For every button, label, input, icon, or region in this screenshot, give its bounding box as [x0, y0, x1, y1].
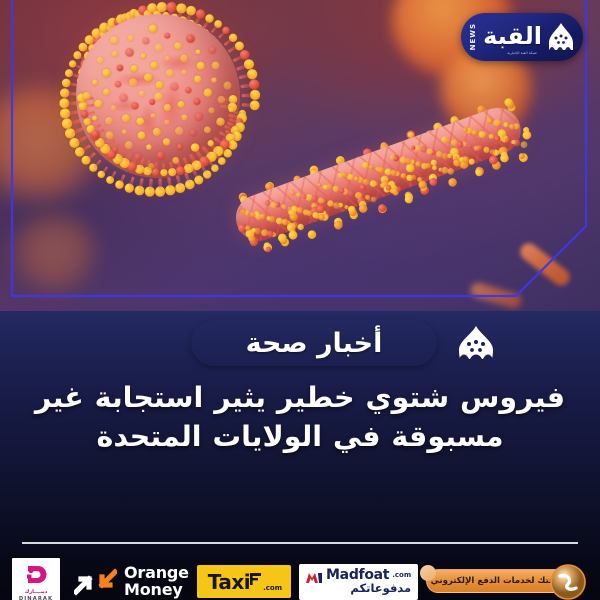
madfoat-arabic-label: مدفوعاتكم	[350, 582, 411, 595]
sponsor-madfoat[interactable]: Madfoat .com مدفوعاتكم	[299, 564, 418, 600]
logo-tagline: شبكة القبة الإخبارية	[461, 51, 583, 55]
taxi-word-label: Taxi	[208, 572, 250, 592]
dinarak-logo-icon	[23, 562, 49, 588]
epayment-orb-icon	[550, 564, 586, 600]
sponsor-epayment-banner[interactable]: راحتك لخدمات الدفع الإلكتروني	[426, 567, 580, 597]
dome-icon	[455, 324, 497, 364]
background-virion-icon	[10, 214, 98, 294]
taxi-suffix-label: .com	[263, 584, 282, 592]
background-rod-virion-icon	[517, 240, 573, 289]
orange-money-arrows-icon	[74, 568, 117, 596]
orange-money-label: Orange Money	[124, 565, 189, 598]
channel-logo[interactable]: NEWS القبة شبكة القبة الإخبارية	[461, 13, 583, 61]
madfoat-name-label: Madfoat	[326, 568, 389, 582]
taxi-flag-icon	[250, 573, 262, 590]
page-title: فيروس شتوي خطير يثير استجابة غير مسبوقة …	[18, 378, 582, 457]
madfoat-logo-icon	[306, 569, 323, 581]
sponsor-bar: دينــــارك DINARAK Orange Money Taxi	[0, 552, 600, 600]
orange-money-line2: Money	[124, 580, 183, 599]
sponsor-dinarak[interactable]: دينــــارك DINARAK	[12, 558, 60, 600]
dome-icon	[547, 22, 575, 52]
sponsor-orange-money[interactable]: Orange Money	[68, 565, 189, 598]
divider	[22, 542, 578, 544]
category-badge[interactable]: أخبار صحة	[191, 320, 437, 366]
news-card: NEWS القبة شبكة القبة الإخبارية	[0, 0, 600, 600]
category-label: أخبار صحة	[246, 328, 383, 359]
madfoat-suffix-label: .com	[392, 571, 411, 579]
filamentous-rod-virion-icon	[215, 85, 541, 264]
epayment-squiggle-icon	[436, 594, 470, 600]
logo-news-label: NEWS	[469, 23, 477, 50]
background-rod-virion-icon	[469, 281, 523, 310]
spiky-sphere-virion-icon	[56, 0, 260, 198]
sponsor-taxi-com[interactable]: Taxi .com	[197, 565, 291, 598]
epayment-label: راحتك لخدمات الدفع الإلكتروني	[435, 571, 563, 591]
category-row: أخبار صحة	[0, 320, 600, 368]
virus-illustration: NEWS القبة شبكة القبة الإخبارية	[0, 0, 600, 313]
logo-arabic-label: القبة	[483, 24, 542, 48]
dinarak-name-label: DINARAK	[19, 596, 53, 600]
dinarak-arabic-label: دينــــارك	[25, 589, 48, 595]
content-panel: أخبار صحة فيروس شتوي خطير يثير استجابة غ…	[0, 311, 600, 600]
